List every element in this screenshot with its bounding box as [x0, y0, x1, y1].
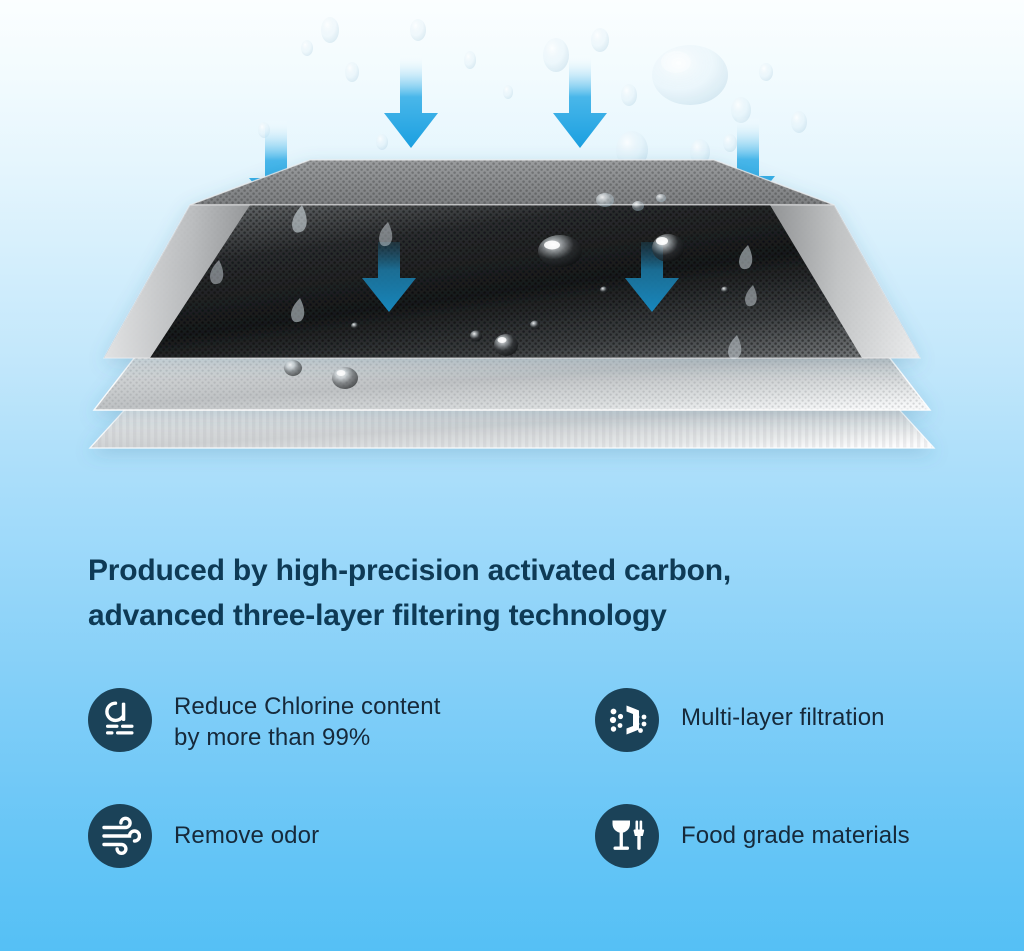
feature-row: Reduce Chlorine content by more than 99%: [88, 686, 978, 804]
headline-line-1: Produced by high-precision activated car…: [88, 548, 968, 593]
water-droplet-group-upper: [258, 17, 807, 169]
feature-row: Remove odor Food grade materials: [88, 804, 978, 884]
feature-label-line-1: Reduce Chlorine content: [174, 691, 440, 722]
multi-layer-filter-icon: [595, 688, 659, 752]
feature-label: Multi-layer filtration: [681, 686, 885, 733]
wind-odor-icon: [88, 804, 152, 868]
hero-illustration: [0, 0, 1024, 500]
feature-label: Food grade materials: [681, 804, 910, 851]
chlorine-cl-icon: [88, 688, 152, 752]
feature-label: Reduce Chlorine content by more than 99%: [174, 686, 440, 753]
feature-item-remove-odor: Remove odor: [88, 804, 595, 884]
feature-item-reduce-chlorine: Reduce Chlorine content by more than 99%: [88, 686, 595, 804]
top-carbon-layer: [95, 155, 935, 365]
feature-item-multi-layer-filtration: Multi-layer filtration: [595, 686, 978, 804]
feature-label-line-2: by more than 99%: [174, 722, 440, 753]
page-title: Produced by high-precision activated car…: [88, 548, 968, 638]
water-flow-arrow: [384, 55, 438, 148]
headline-line-2: advanced three-layer filtering technolog…: [88, 593, 968, 638]
feature-list: Reduce Chlorine content by more than 99%: [88, 686, 978, 884]
feature-label: Remove odor: [174, 804, 319, 851]
feature-item-food-grade-materials: Food grade materials: [595, 804, 978, 884]
glass-fork-food-grade-icon: [595, 804, 659, 868]
